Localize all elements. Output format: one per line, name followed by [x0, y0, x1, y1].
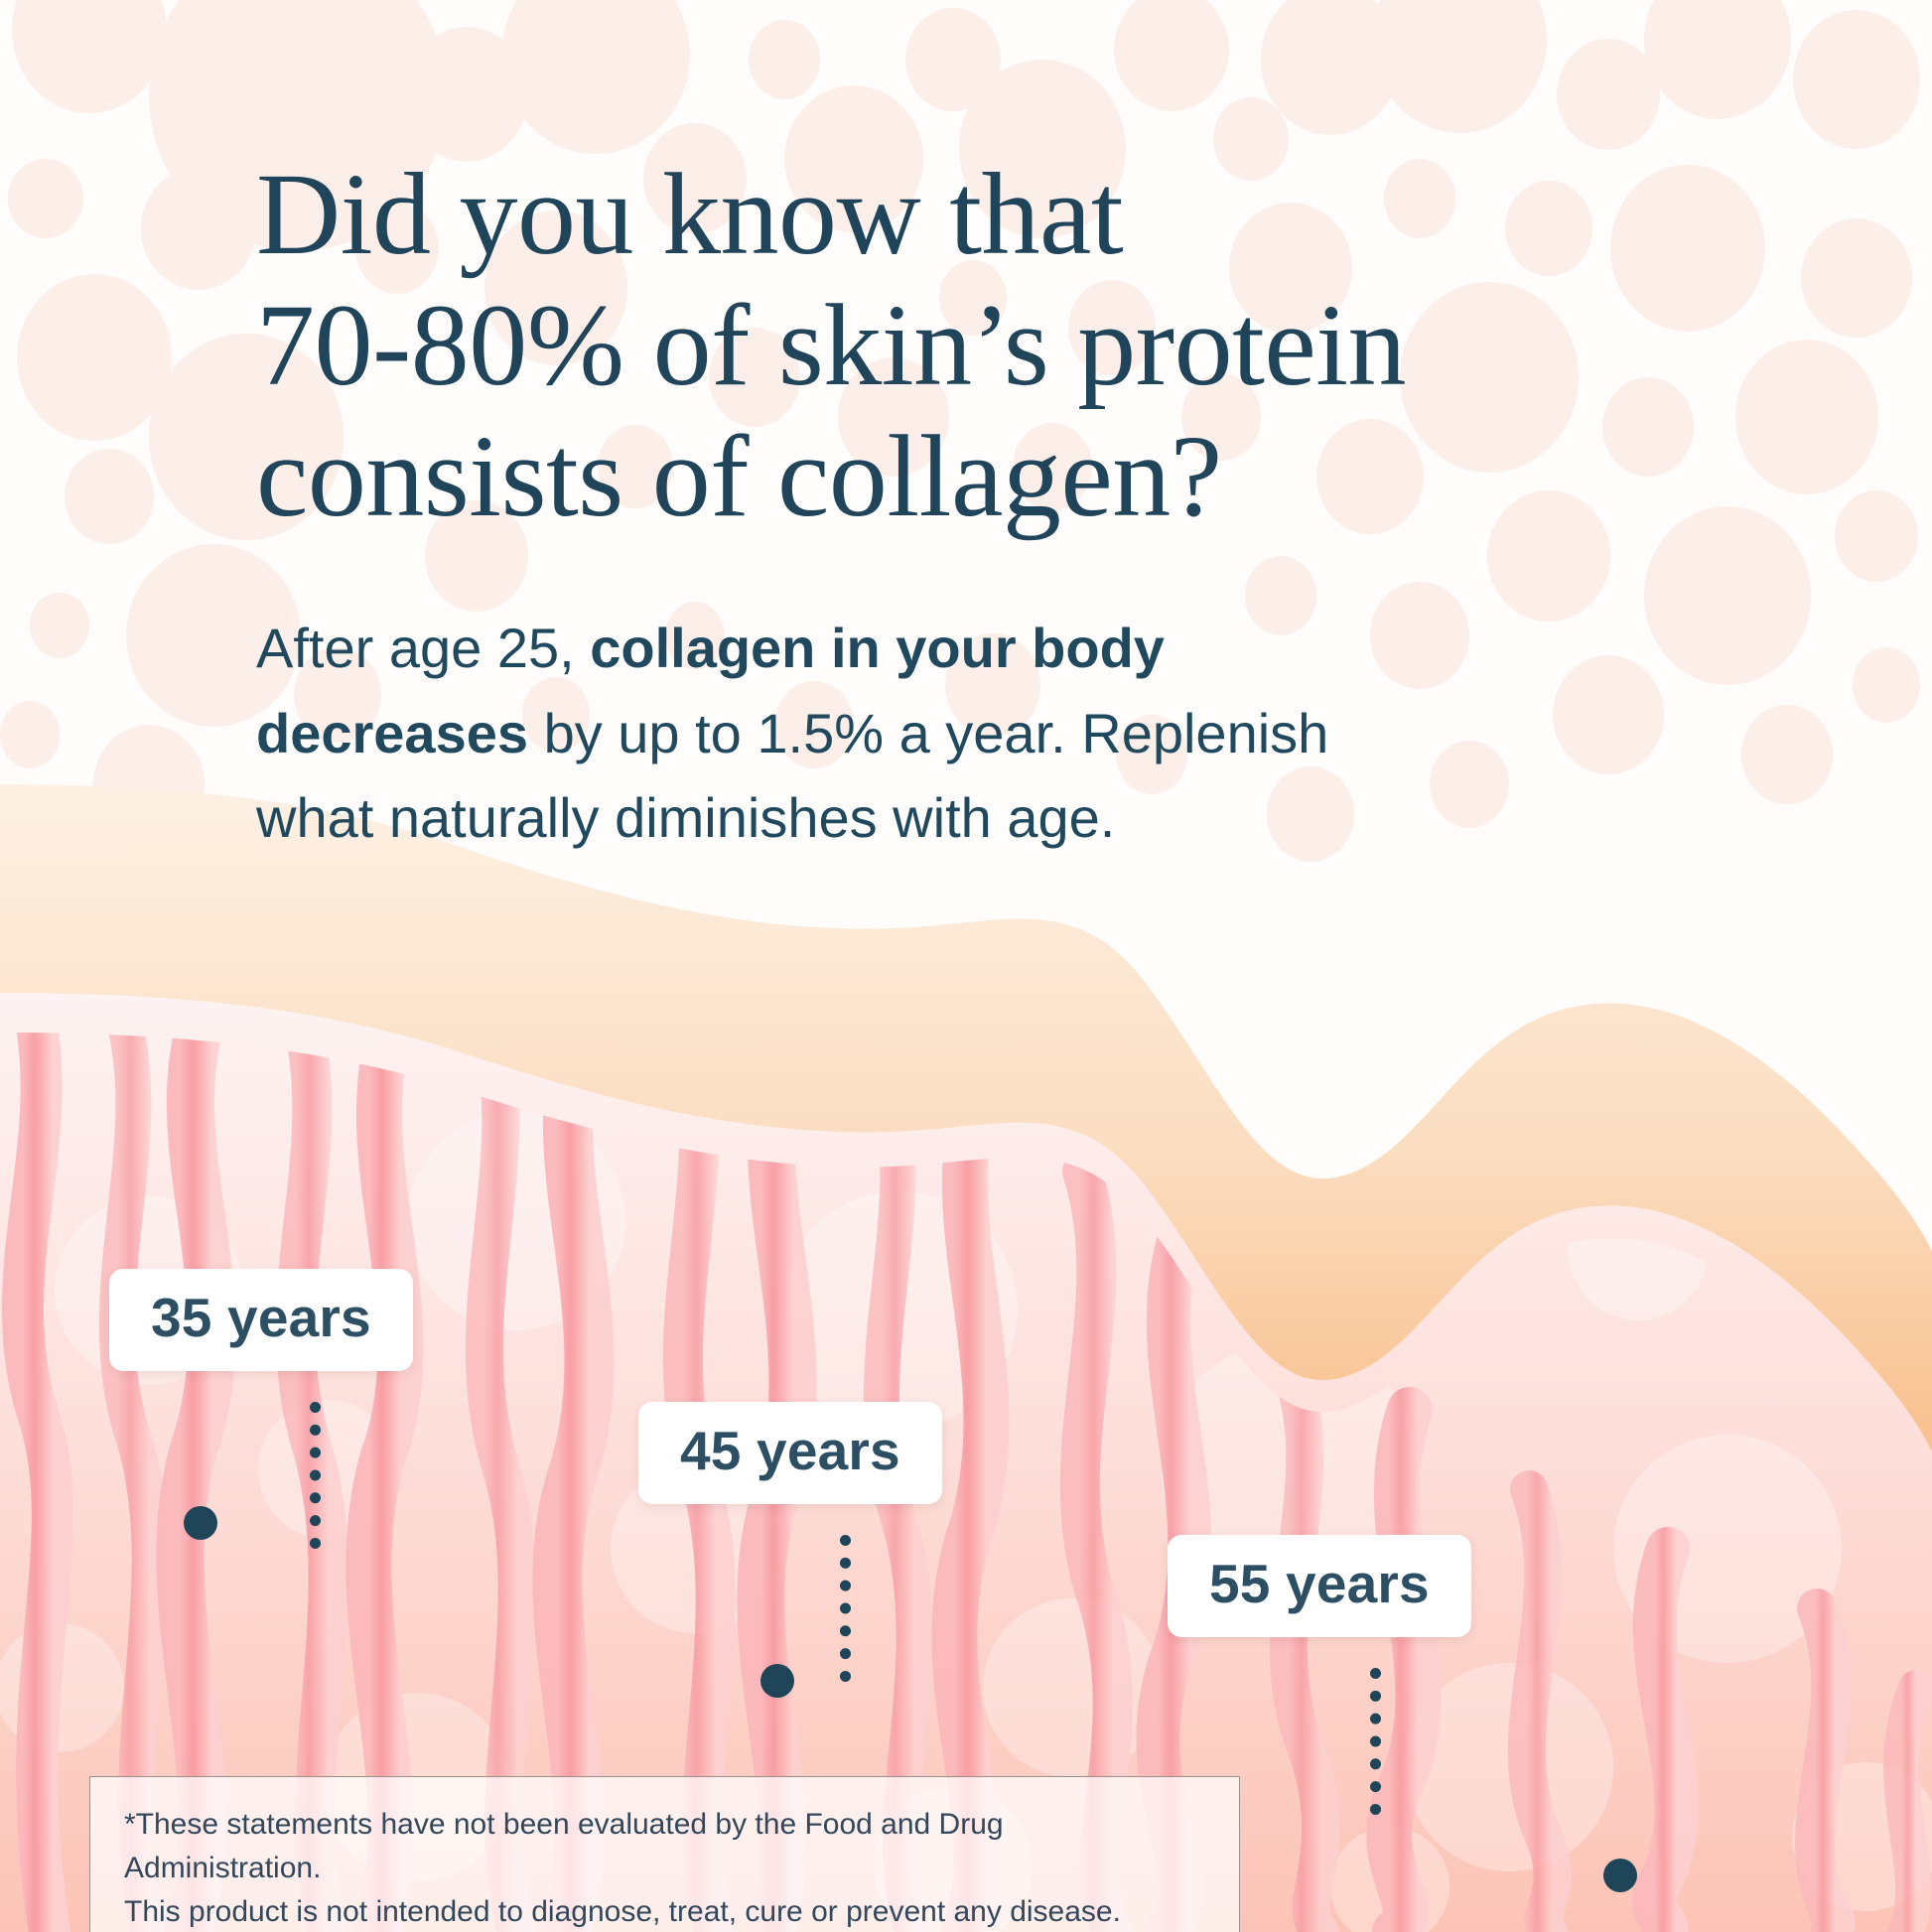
disclaimer-box: *These statements have not been evaluate…: [89, 1776, 1240, 1932]
age-callout-45: 45 years: [638, 1402, 942, 1504]
callout-card: 45 years: [638, 1402, 942, 1504]
callout-leader-line: [1370, 1668, 1381, 1815]
page-title: Did you know that 70-80% of skin’s prote…: [256, 149, 1666, 542]
callout-label: 35 years: [151, 1287, 371, 1348]
collagen-fiber: [1654, 1549, 1676, 1932]
age-callout-35: 35 years: [109, 1269, 413, 1371]
subhead-part-1: After age 25,: [256, 617, 590, 679]
callout-card: 35 years: [109, 1269, 413, 1371]
collagen-fiber: [1815, 1608, 1836, 1932]
callout-leader-line: [840, 1535, 851, 1682]
callout-endpoint-dot: [760, 1664, 794, 1698]
callout-endpoint-dot: [184, 1506, 217, 1540]
dermis-bubble: [983, 1598, 1162, 1777]
callout-leader-line: [310, 1402, 321, 1549]
callout-label: 55 years: [1209, 1553, 1430, 1614]
callout-endpoint-dot: [1603, 1859, 1637, 1892]
copy-block: Did you know that 70-80% of skin’s prote…: [256, 149, 1666, 860]
age-callout-55: 55 years: [1168, 1535, 1471, 1637]
callout-card: 55 years: [1168, 1535, 1471, 1637]
callout-label: 45 years: [680, 1420, 900, 1481]
collagen-fiber: [1901, 1688, 1916, 1932]
disclaimer-text: *These statements have not been evaluate…: [124, 1803, 1205, 1932]
infographic-canvas: Did you know that 70-80% of skin’s prote…: [0, 0, 1932, 1932]
subheading: After age 25, collagen in your body decr…: [256, 606, 1408, 859]
